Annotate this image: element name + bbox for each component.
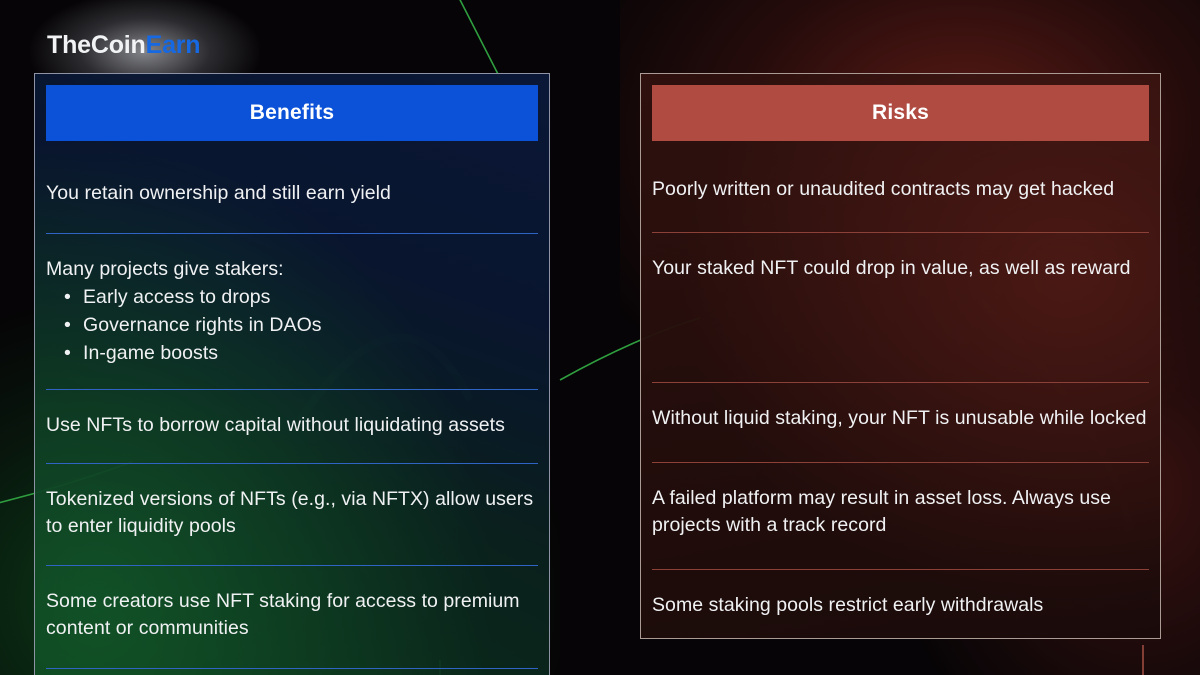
benefits-rows: You retain ownership and still earn yiel…: [35, 141, 549, 669]
list-item: Tokenized versions of NFTs (e.g., via NF…: [46, 464, 538, 565]
bullet-item: •Early access to drops: [46, 283, 538, 311]
risks-panel: Risks Poorly written or unaudited contra…: [640, 73, 1161, 639]
list-item: Many projects give stakers: •Early acces…: [46, 234, 538, 389]
risks-row-2-text: Without liquid staking, your NFT is unus…: [652, 405, 1149, 432]
benefits-header: Benefits: [46, 85, 538, 141]
benefits-title: Benefits: [250, 101, 334, 125]
risks-header: Risks: [652, 85, 1149, 141]
benefits-row-4-text: Some creators use NFT staking for access…: [46, 588, 538, 642]
benefits-row-1-text: Many projects give stakers:: [46, 256, 538, 283]
bullet-text: In-game boosts: [83, 342, 218, 364]
list-item: You retain ownership and still earn yiel…: [46, 141, 538, 233]
risks-row-3-text: A failed platform may result in asset lo…: [652, 485, 1149, 539]
benefits-row-0-text: You retain ownership and still earn yiel…: [46, 180, 538, 207]
risks-row-1-text: Your staked NFT could drop in value, as …: [652, 255, 1149, 282]
risks-title: Risks: [872, 101, 929, 125]
risks-rows: Poorly written or unaudited contracts ma…: [641, 141, 1160, 639]
benefits-row-2-text: Use NFTs to borrow capital without liqui…: [46, 412, 538, 439]
list-item: Some staking pools restrict early withdr…: [652, 570, 1149, 639]
brand-logo-accent: Earn: [146, 31, 201, 59]
risks-row-4-text: Some staking pools restrict early withdr…: [652, 592, 1149, 619]
benefits-row-1-bullets: •Early access to drops •Governance right…: [46, 283, 538, 367]
risks-row-0-text: Poorly written or unaudited contracts ma…: [652, 176, 1149, 203]
list-item: Your staked NFT could drop in value, as …: [652, 233, 1149, 382]
brand-logo[interactable]: TheCoinEarn: [47, 31, 200, 60]
bullet-item: •In-game boosts: [46, 339, 538, 367]
list-item: Without liquid staking, your NFT is unus…: [652, 383, 1149, 462]
list-item: Poorly written or unaudited contracts ma…: [652, 141, 1149, 232]
bullet-dot-icon: •: [64, 311, 71, 339]
green-line-top: [455, 0, 500, 78]
bullet-text: Governance rights in DAOs: [83, 314, 322, 336]
divider: [46, 668, 538, 669]
benefits-panel: Benefits You retain ownership and still …: [34, 73, 550, 675]
bullet-item: •Governance rights in DAOs: [46, 311, 538, 339]
list-item: A failed platform may result in asset lo…: [652, 463, 1149, 569]
slide-canvas: TheCoinEarn Benefits You retain ownershi…: [0, 0, 1200, 675]
benefits-row-3-text: Tokenized versions of NFTs (e.g., via NF…: [46, 486, 538, 540]
bullet-dot-icon: •: [64, 339, 71, 367]
bullet-text: Early access to drops: [83, 286, 270, 308]
list-item: Use NFTs to borrow capital without liqui…: [46, 390, 538, 463]
bullet-dot-icon: •: [64, 283, 71, 311]
list-item: Some creators use NFT staking for access…: [46, 566, 538, 668]
brand-logo-primary: TheCoin: [47, 31, 146, 59]
